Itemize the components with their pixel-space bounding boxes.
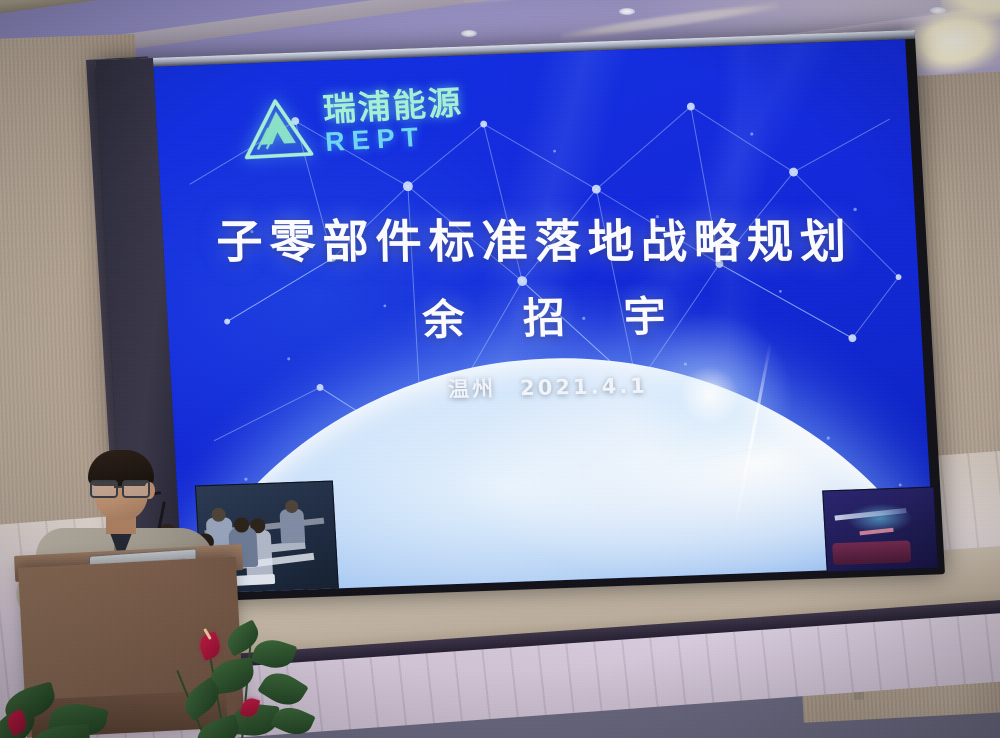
conference-photo-scene: 瑞浦能源 REPT 子零部件标准落地战略规划 余 招 宇 温州 2021.4.1 (0, 0, 1000, 738)
anthurium-plant (170, 612, 400, 738)
foreground-leaf-4 (29, 724, 91, 738)
plant-leaf-2 (251, 635, 298, 674)
foreground-foliage (0, 660, 144, 738)
ceiling-spot-3 (930, 7, 946, 14)
slide-title: 子零部件标准落地战略规划 (215, 206, 879, 272)
slide-speaker-name: 余 招 宇 (167, 279, 921, 352)
inset-stage-feed[interactable] (822, 486, 939, 572)
ceiling-spot-1 (461, 30, 477, 37)
screen-surface: 瑞浦能源 REPT 子零部件标准落地战略规划 余 招 宇 温州 2021.4.1 (153, 39, 934, 594)
inset-stage-platform (832, 540, 911, 565)
logo-company-cn: 瑞浦能源 (321, 85, 463, 125)
eyeglasses-icon (90, 480, 152, 495)
rept-triangle-logo-icon (238, 94, 316, 160)
logo-text-block: 瑞浦能源 REPT (321, 85, 465, 155)
ceiling-spot-2 (619, 8, 635, 15)
company-logo: 瑞浦能源 REPT (237, 85, 465, 160)
inset-person-3 (279, 509, 305, 544)
